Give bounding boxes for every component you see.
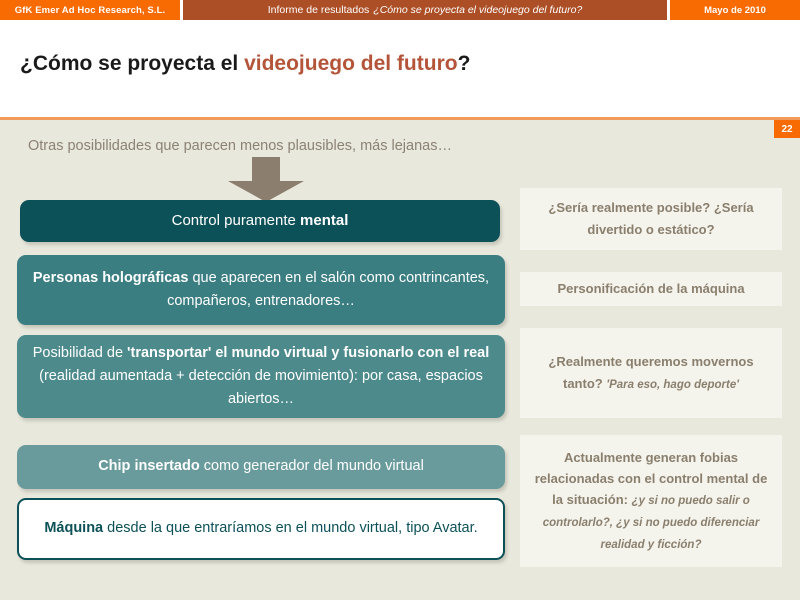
lbox0-bold-1: mental xyxy=(300,212,348,229)
page-title-accent: videojuego del futuro xyxy=(244,52,458,75)
lbox3-plain-1: como generador del mundo virtual xyxy=(200,458,424,474)
comment-box-possible-fun-text: ¿Sería realmente posible? ¿Sería diverti… xyxy=(520,197,782,240)
lbox0-plain-1: Control puramente xyxy=(172,212,300,229)
down-arrow-icon xyxy=(228,157,304,202)
rbox1-bold-1: Personificación de la máquina xyxy=(557,281,744,296)
banner-date: Mayo de 2010 xyxy=(670,0,800,20)
lbox2-plain-1: Posibilidad de xyxy=(33,345,127,361)
banner-report-prefix: Informe de resultados xyxy=(268,4,370,16)
comment-box-phobias-text: Actualmente generan fobias relacionadas … xyxy=(520,447,782,556)
idea-box-augmented-reality-text: Posibilidad de 'transportar' el mundo vi… xyxy=(17,342,505,412)
comment-box-phobias[interactable]: Actualmente generan fobias relacionadas … xyxy=(520,435,782,567)
comment-box-possible-fun[interactable]: ¿Sería realmente posible? ¿Sería diverti… xyxy=(520,188,782,250)
page-title-part-2: ? xyxy=(458,52,471,75)
panel-subtitle: Otras posibilidades que parecen menos pl… xyxy=(28,138,452,154)
lbox1-bold-1: Personas holográficas xyxy=(33,270,189,286)
banner-report-title: Informe de resultados ¿Cómo se proyecta … xyxy=(183,0,667,20)
idea-box-mental-control[interactable]: Control puramente mental xyxy=(20,200,500,242)
banner-company-name: GfK Emer Ad Hoc Research, S.L. xyxy=(0,0,180,20)
rbox2-italic-1: 'Para eso, hago deporte' xyxy=(606,379,739,391)
idea-box-inserted-chip-text: Chip insertado como generador del mundo … xyxy=(84,455,438,478)
idea-box-augmented-reality[interactable]: Posibilidad de 'transportar' el mundo vi… xyxy=(17,335,505,418)
top-banner: GfK Emer Ad Hoc Research, S.L. Informe d… xyxy=(0,0,800,20)
idea-box-mental-control-text: Control puramente mental xyxy=(158,209,363,233)
lbox4-plain-1: desde la que entraríamos en el mundo vir… xyxy=(103,520,478,536)
slide-canvas: GfK Emer Ad Hoc Research, S.L. Informe d… xyxy=(0,0,800,600)
lbox2-plain-2: (realidad aumentada + detección de movim… xyxy=(39,368,483,407)
lbox4-bold-1: Máquina xyxy=(44,520,103,536)
comment-box-movement[interactable]: ¿Realmente queremos movernos tanto? 'Par… xyxy=(520,328,782,418)
comment-box-movement-text: ¿Realmente queremos movernos tanto? 'Par… xyxy=(520,351,782,394)
idea-box-holographic-people[interactable]: Personas holográficas que aparecen en el… xyxy=(17,255,505,325)
lbox3-bold-1: Chip insertado xyxy=(98,458,200,474)
comment-box-machine-personification[interactable]: Personificación de la máquina xyxy=(520,272,782,306)
idea-box-machine-avatar[interactable]: Máquina desde la que entraríamos en el m… xyxy=(17,498,505,560)
idea-box-machine-avatar-text: Máquina desde la que entraríamos en el m… xyxy=(30,517,491,540)
lbox2-bold-1: 'transportar' el mundo virtual y fusiona… xyxy=(127,345,489,361)
idea-box-inserted-chip[interactable]: Chip insertado como generador del mundo … xyxy=(17,445,505,489)
banner-report-question: ¿Cómo se proyecta el videojuego del futu… xyxy=(373,4,582,16)
page-title-part-1: ¿Cómo se proyecta el xyxy=(20,52,244,75)
page-number-badge: 22 xyxy=(774,120,800,138)
comment-box-machine-personification-text: Personificación de la máquina xyxy=(547,278,754,300)
page-title: ¿Cómo se proyecta el videojuego del futu… xyxy=(20,52,470,76)
content-panel: 22 Otras posibilidades que parecen menos… xyxy=(0,117,800,600)
lbox1-plain-1: que aparecen en el salón como contrincan… xyxy=(167,270,489,309)
idea-box-holographic-people-text: Personas holográficas que aparecen en el… xyxy=(17,267,505,313)
rbox0-bold-1: ¿Sería realmente posible? ¿Sería diverti… xyxy=(548,200,753,236)
